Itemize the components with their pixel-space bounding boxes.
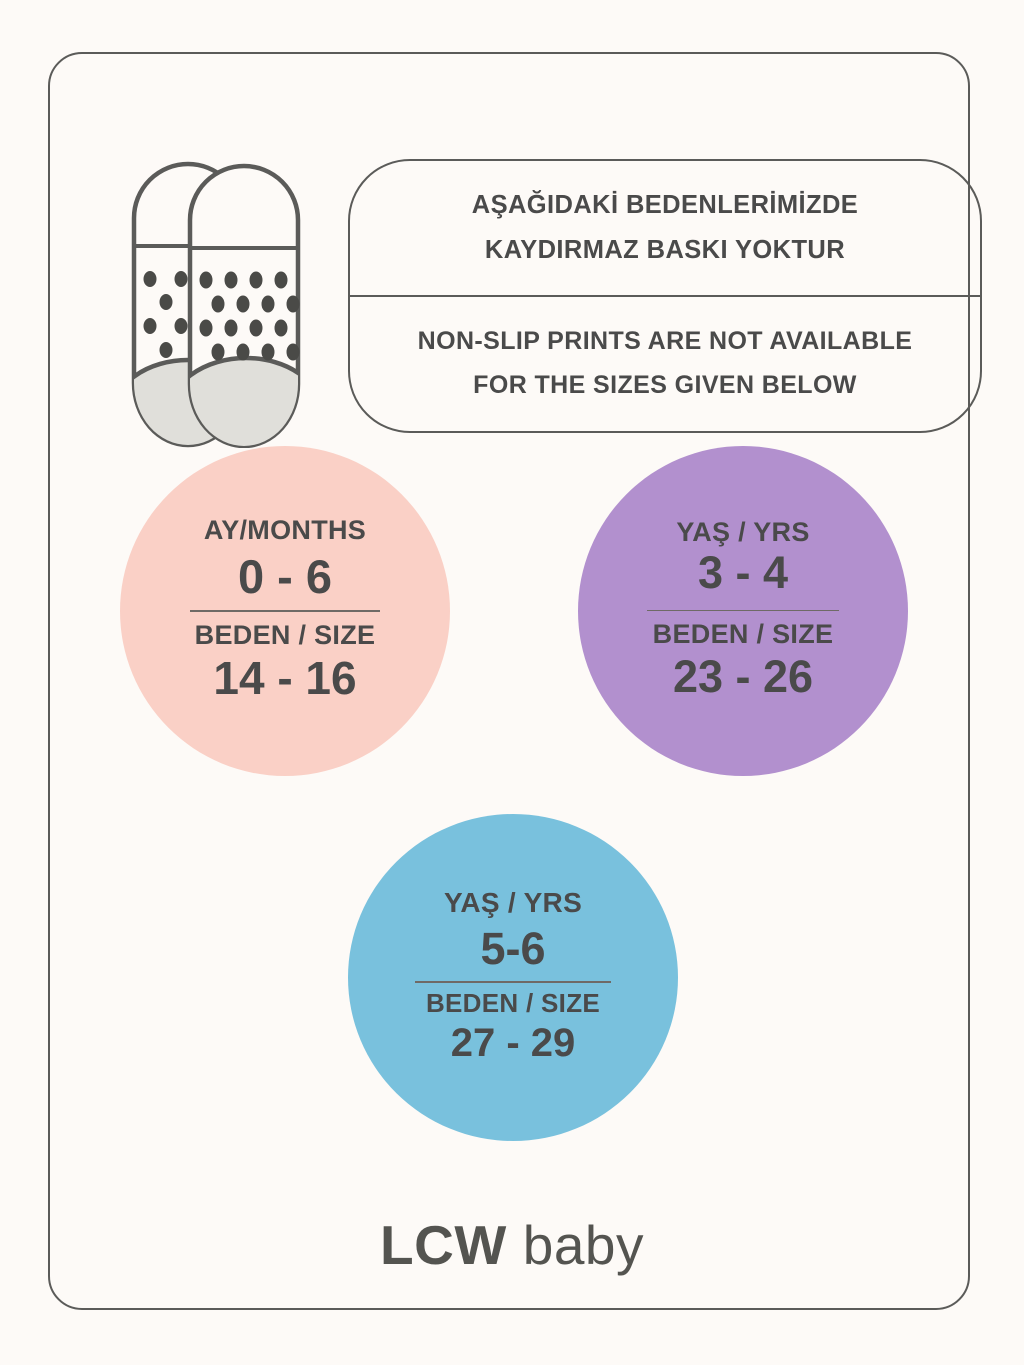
circle-divider — [190, 610, 380, 612]
size-value: 14 - 16 — [213, 651, 356, 706]
size-label: BEDEN / SIZE — [426, 989, 600, 1019]
brand-logo: LCWbaby — [0, 1213, 1024, 1277]
size-label: BEDEN / SIZE — [653, 619, 834, 650]
age-value: 5-6 — [480, 921, 545, 977]
non-slip-socks-icon — [128, 158, 338, 448]
socks-illustration-svg — [128, 158, 338, 448]
brand-primary-text: LCW — [380, 1214, 507, 1276]
circle-divider — [647, 610, 839, 612]
size-circle-months-0-6: AY/MONTHS 0 - 6 BEDEN / SIZE 14 - 16 — [120, 446, 450, 776]
circle-divider — [415, 981, 611, 983]
notice-turkish: AŞAĞIDAKİ BEDENLERİMİZDE KAYDIRMAZ BASKI… — [350, 161, 980, 297]
age-value: 3 - 4 — [698, 545, 788, 601]
notice-turkish-line-2: KAYDIRMAZ BASKI YOKTUR — [485, 228, 845, 273]
notice-english-line-1: NON-SLIP PRINTS ARE NOT AVAILABLE — [418, 320, 913, 364]
size-label: BEDEN / SIZE — [195, 620, 376, 651]
age-label: YAŞ / YRS — [676, 518, 809, 548]
size-value: 27 - 29 — [451, 1019, 576, 1067]
age-label: AY/MONTHS — [204, 516, 366, 546]
brand-secondary-text: baby — [523, 1214, 644, 1276]
notice-english: NON-SLIP PRINTS ARE NOT AVAILABLE FOR TH… — [350, 297, 980, 431]
size-circle-years-3-4: YAŞ / YRS 3 - 4 BEDEN / SIZE 23 - 26 — [578, 446, 908, 776]
size-value: 23 - 26 — [673, 650, 813, 704]
notice-english-line-2: FOR THE SIZES GIVEN BELOW — [473, 364, 857, 408]
size-circle-years-5-6: YAŞ / YRS 5-6 BEDEN / SIZE 27 - 29 — [348, 814, 678, 1141]
age-value: 0 - 6 — [238, 548, 332, 607]
sock-front — [168, 166, 324, 448]
notice-turkish-line-1: AŞAĞIDAKİ BEDENLERİMİZDE — [472, 183, 858, 228]
age-label: YAŞ / YRS — [444, 888, 582, 919]
notice-box: AŞAĞIDAKİ BEDENLERİMİZDE KAYDIRMAZ BASKI… — [348, 159, 982, 433]
